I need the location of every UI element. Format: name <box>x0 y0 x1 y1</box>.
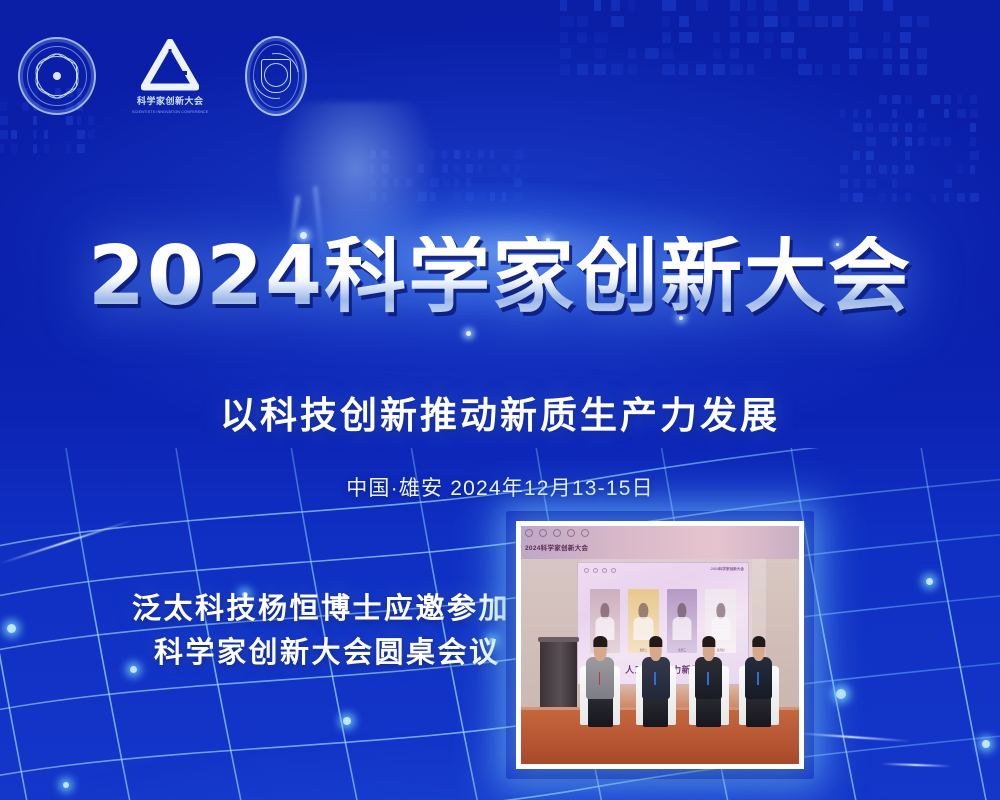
banner-icon-5 <box>581 529 589 537</box>
title-block: 2024科学家创新大会 <box>0 236 1000 318</box>
legs <box>746 697 771 727</box>
banner-logo-icons <box>525 529 589 537</box>
torso <box>642 657 670 699</box>
location-date-line: 中国·雄安 2024年12月13-15日 <box>0 472 1000 502</box>
badge <box>599 672 601 685</box>
conference-poster: 科学家创新大会 SCIENTISTS INNOVATION CONFERENCE… <box>0 0 1000 800</box>
atom-nucleus <box>53 72 61 80</box>
hair <box>752 636 765 647</box>
data-block-pattern-mid <box>370 150 550 220</box>
torso <box>586 657 614 699</box>
hair <box>702 636 715 647</box>
speaker-head <box>677 603 686 618</box>
panelist-3 <box>688 628 730 723</box>
badge <box>757 672 759 685</box>
academy-seal-logo <box>18 37 96 115</box>
academy-seal-icon <box>18 37 96 115</box>
institute-oval-logo <box>245 36 307 116</box>
banner-icon-1 <box>525 529 533 537</box>
page-title: 2024科学家创新大会 <box>88 236 912 318</box>
legs <box>588 697 613 727</box>
mesh-node <box>63 782 69 788</box>
mesh-node <box>343 717 351 725</box>
banner-icon-2 <box>539 529 547 537</box>
mesh-node <box>982 740 990 748</box>
light-streak-2 <box>791 731 911 741</box>
caption-block: 泛太科技杨恒博士应邀参加 科学家创新大会圆桌会议 <box>132 588 510 675</box>
hair <box>594 636 607 647</box>
mesh-node <box>7 624 16 633</box>
mesh-node <box>836 689 846 699</box>
legs <box>696 697 721 727</box>
triangle-logo: 科学家创新大会 SCIENTISTS INNOVATION CONFERENCE <box>132 39 209 114</box>
screen-logo-icons <box>584 568 616 573</box>
caption-line-1: 泛太科技杨恒博士应邀参加 <box>132 588 510 632</box>
data-block-pattern-top-right <box>560 0 1000 150</box>
hair <box>649 636 662 647</box>
page-subtitle: 以科技创新推动新质生产力发展 <box>0 385 1000 439</box>
torso <box>695 657 723 699</box>
speaker-head <box>716 603 725 618</box>
institute-oval-icon <box>245 36 307 116</box>
shield-icon <box>261 59 291 93</box>
speaker-head <box>600 603 609 618</box>
roundtable-photo-frame[interactable]: 2024科学家创新大会 2024科学家创新大会 嘉宾一 嘉宾 <box>516 521 804 769</box>
banner-icon-3 <box>553 529 561 537</box>
torso <box>745 657 773 699</box>
panelist-1 <box>579 628 621 723</box>
badge <box>707 672 709 685</box>
logo-row: 科学家创新大会 SCIENTISTS INNOVATION CONFERENCE <box>18 36 307 116</box>
screen-header-text: 2024科学家创新大会 <box>711 567 744 572</box>
caption-line-2: 科学家创新大会圆桌会议 <box>132 632 510 676</box>
light-streak-1 <box>0 519 133 564</box>
mesh-node <box>926 578 933 585</box>
panelist-4 <box>738 628 780 723</box>
triangle-logo-cn-text: 科学家创新大会 <box>137 94 204 107</box>
speaker-head <box>639 603 648 618</box>
badge <box>654 672 656 685</box>
triangle-mark-icon <box>141 39 199 91</box>
spark-4 <box>466 331 471 336</box>
legs <box>643 697 668 727</box>
wall-banner-text: 2024科学家创新大会 <box>525 542 588 552</box>
panelist-2 <box>635 628 677 723</box>
banner-icon-4 <box>567 529 575 537</box>
triangle-logo-en-text: SCIENTISTS INNOVATION CONFERENCE <box>132 110 209 114</box>
light-streak-3 <box>881 762 951 766</box>
wall-banner: 2024科学家创新大会 <box>521 526 799 559</box>
roundtable-photo: 2024科学家创新大会 2024科学家创新大会 嘉宾一 嘉宾 <box>521 526 799 764</box>
